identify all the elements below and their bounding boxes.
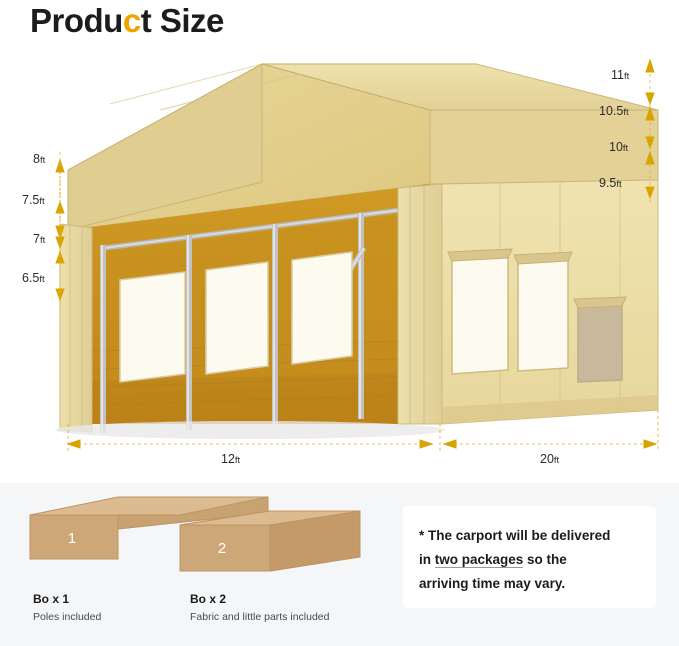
note-star: * [419, 528, 424, 543]
package-1-number: 1 [68, 530, 76, 547]
package-1-sub: Poles included [33, 611, 101, 623]
package-2-number: 2 [218, 540, 226, 557]
height-value-6_5: 6.5 [22, 271, 39, 285]
height-value-7_5: 7.5 [22, 193, 39, 207]
product-size-diagram: Product Size [0, 0, 679, 646]
height-unit-10_5: ft [623, 107, 628, 118]
page-title-highlight: c [123, 2, 141, 39]
height-value-10: 10 [609, 140, 623, 154]
height-label-7_5ft: 7.5ft [22, 193, 45, 207]
package-1-label: Bo x 1 [33, 592, 69, 606]
package-2-label: Bo x 2 [190, 592, 226, 606]
ground-shadow [55, 421, 445, 439]
length-label-20ft: 20ft [540, 452, 559, 466]
height-unit-10: ft [623, 143, 628, 154]
height-value-8: 8 [33, 152, 40, 166]
height-label-10ft: 10ft [609, 140, 628, 154]
right-tick-2 [646, 93, 654, 104]
height-label-10_5ft: 10.5ft [599, 104, 629, 118]
package-2-sub: Fabric and little parts included [190, 611, 330, 623]
note-line-2-underline: two packages [435, 552, 524, 568]
height-label-6_5ft: 6.5ft [22, 271, 45, 285]
length-arrow-left [444, 440, 456, 448]
front-left-flap [60, 224, 92, 432]
height-value-9_5: 9.5 [599, 176, 616, 190]
height-unit-11: ft [624, 71, 629, 82]
page-title: Product Size [30, 2, 224, 40]
height-label-7ft: 7ft [33, 232, 45, 246]
width-arrow-right [420, 440, 432, 448]
height-unit-8: ft [40, 155, 45, 166]
carport-illustration [0, 52, 679, 482]
height-unit-7_5: ft [39, 196, 44, 207]
length-arrow-right [644, 440, 656, 448]
width-value: 12 [221, 452, 235, 466]
note-line-3: arriving time may vary. [419, 576, 565, 591]
length-unit: ft [554, 455, 559, 466]
note-line-1: The carport will be delivered [428, 528, 610, 543]
page-title-part-2: t Size [141, 2, 224, 39]
delivery-note-text: * The carport will be delivered in two p… [419, 524, 647, 596]
height-label-9_5ft: 9.5ft [599, 176, 622, 190]
note-line-2-b: so the [523, 552, 567, 567]
height-label-8ft: 8ft [33, 152, 45, 166]
width-unit: ft [235, 455, 240, 466]
height-unit-7: ft [40, 235, 45, 246]
width-arrow-left [68, 440, 80, 448]
front-right-flap [398, 184, 442, 424]
height-value-11: 11 [611, 68, 624, 82]
width-label-12ft: 12ft [221, 452, 240, 466]
right-tick-1 [646, 60, 654, 72]
height-value-7: 7 [33, 232, 40, 246]
height-unit-9_5: ft [616, 179, 621, 190]
height-label-11ft: 11ft [611, 68, 629, 82]
height-value-10_5: 10.5 [599, 104, 623, 118]
note-line-2-a: in [419, 552, 435, 567]
length-value: 20 [540, 452, 554, 466]
page-title-part-1: Produ [30, 2, 123, 39]
height-unit-6_5: ft [39, 274, 44, 285]
